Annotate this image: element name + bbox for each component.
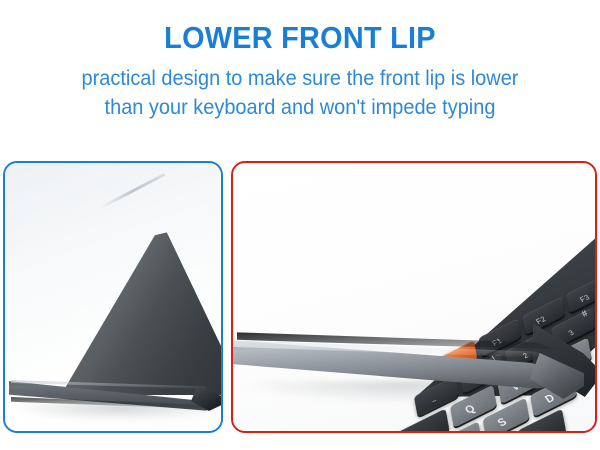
right-photo-inner: esc F1 F2 F3 ` ~: [233, 163, 595, 431]
subtitle-line-2: than your keyboard and won't impede typi…: [15, 93, 585, 123]
key-s-label: S: [496, 417, 511, 431]
subtitle-line-1: practical design to make sure the front …: [15, 64, 585, 94]
key-3-sym: #: [580, 309, 590, 319]
page-subtitle: practical design to make sure the front …: [15, 55, 585, 124]
key-f3-label: F3: [579, 293, 593, 306]
right-product-photo-panel: esc F1 F2 F3 ` ~: [231, 161, 597, 433]
key-tab: tab: [381, 408, 449, 431]
key-q-label: Q: [463, 404, 479, 419]
product-feature-graphic: LOWER FRONT LIP practical design to make…: [0, 0, 600, 450]
header-block: LOWER FRONT LIP practical design to make…: [0, 0, 600, 123]
key-c-label: C: [532, 429, 548, 431]
left-product-photo-panel: [3, 161, 223, 433]
key-3-label: 3: [567, 329, 577, 339]
page-title: LOWER FRONT LIP: [21, 0, 579, 55]
left-photo-inner: [5, 163, 221, 431]
keyboard-contact-shadow: [243, 381, 573, 403]
key-f2-label: F2: [535, 315, 549, 328]
stand-contact-shadow: [11, 403, 221, 421]
